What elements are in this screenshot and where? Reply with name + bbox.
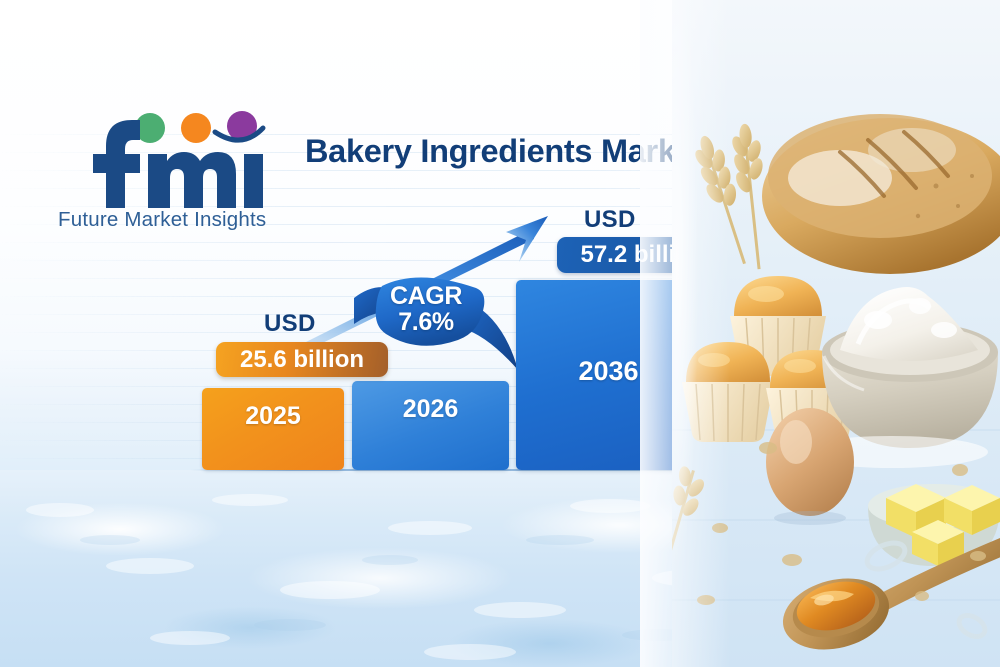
- bar-2026[interactable]: 2026: [352, 381, 509, 470]
- cagr-label: CAGR: [374, 284, 478, 310]
- cagr-text-group: CAGR 7.6%: [374, 284, 478, 335]
- bakery-ingredients-photo: [672, 0, 1000, 667]
- page-title: Bakery Ingredients Market: [305, 133, 704, 170]
- value-badge-2025: 25.6 billion: [216, 342, 388, 377]
- logo-letter-i: [244, 154, 263, 208]
- logo-tagline: Future Market Insights: [58, 208, 266, 232]
- usd-label-2025: USD: [264, 310, 316, 338]
- bar-2025-label: 2025: [202, 402, 344, 431]
- bar-2026-label: 2026: [352, 395, 509, 424]
- usd-label-2036: USD: [584, 206, 636, 234]
- cagr-value: 7.6%: [374, 310, 478, 336]
- infographic-canvas: Future Market Insights Bakery Ingredient…: [0, 0, 1000, 667]
- bread-loaf-icon: [762, 114, 1000, 274]
- logo-dot-orange-icon: [181, 113, 211, 143]
- bar-2025[interactable]: 2025: [202, 388, 344, 470]
- logo-letter-f: [93, 120, 140, 208]
- logo-letter-m: [148, 152, 236, 208]
